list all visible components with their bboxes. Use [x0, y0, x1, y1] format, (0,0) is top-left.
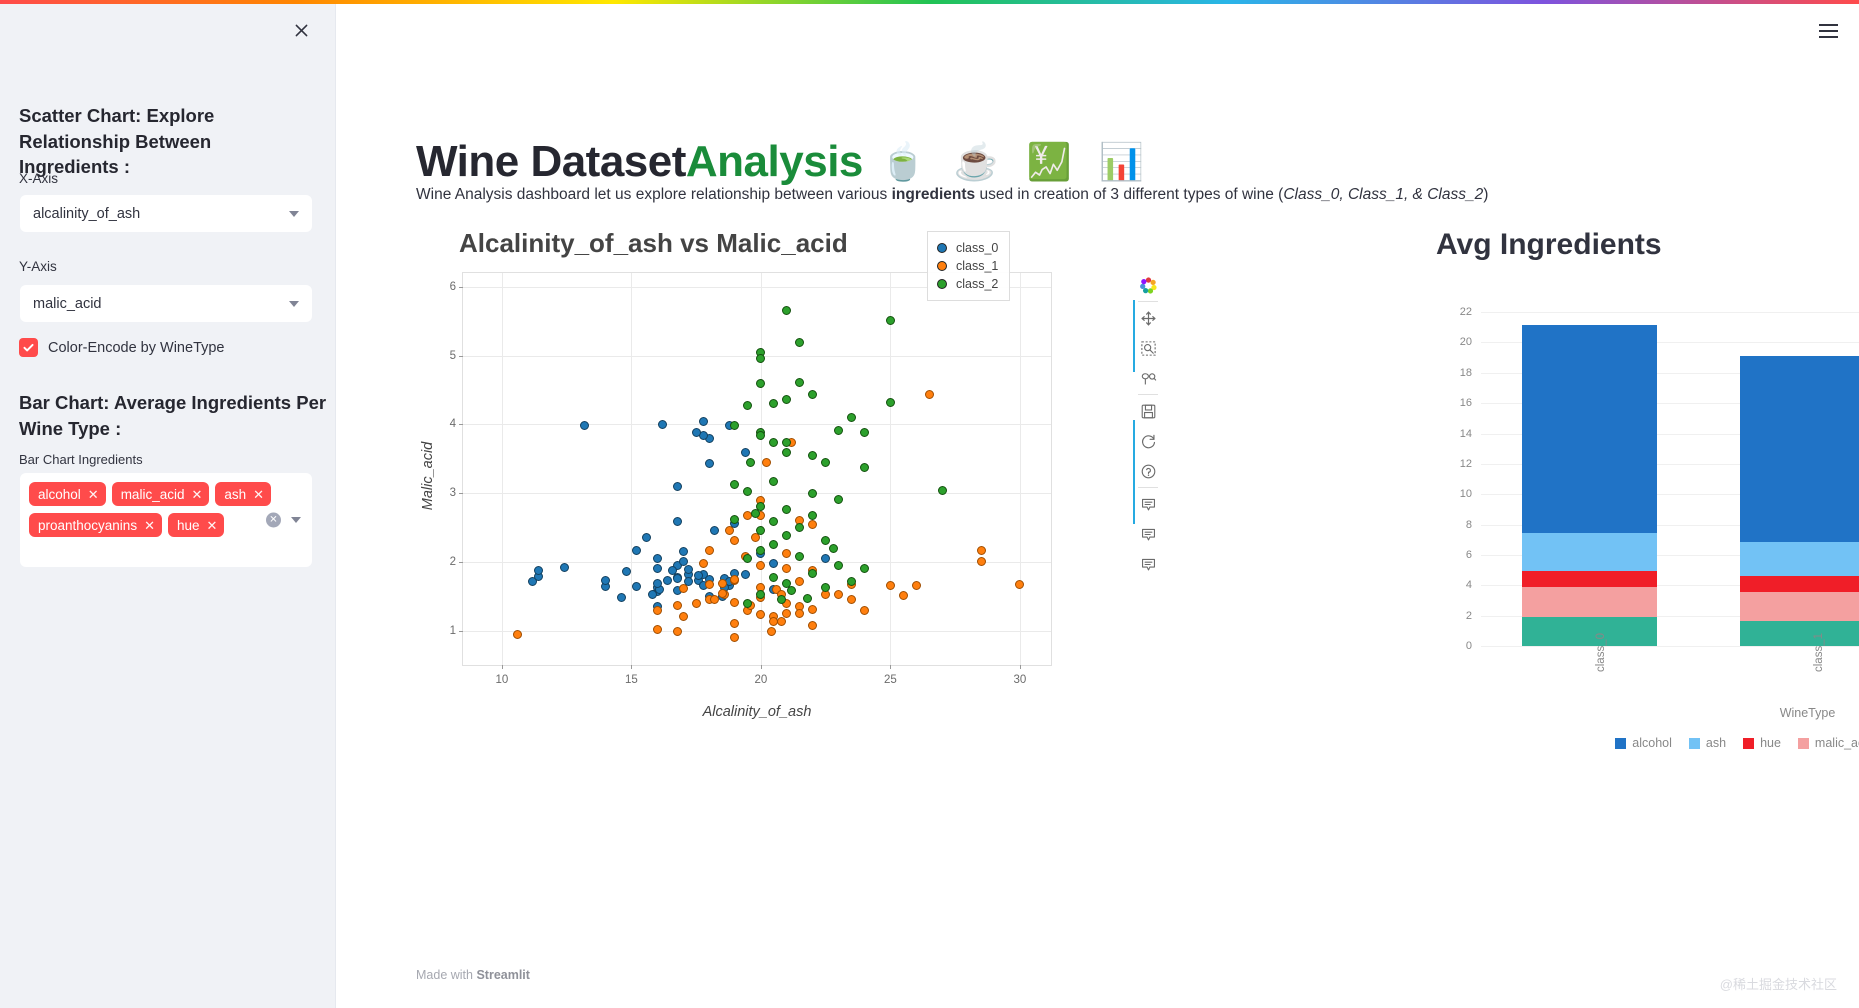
- scatter-y-tick-label: 6: [450, 281, 456, 293]
- color-encode-checkbox[interactable]: Color-Encode by WineType: [19, 338, 225, 357]
- scatter-gridline: [1020, 273, 1021, 665]
- bar-segment-malic_acid[interactable]: [1740, 592, 1859, 621]
- scatter-x-tickmark: [1020, 665, 1021, 669]
- subtitle-pre: Wine Analysis dashboard let us explore r…: [416, 186, 892, 203]
- help-icon[interactable]: [1135, 456, 1161, 486]
- scatter-point[interactable]: [679, 547, 688, 556]
- scatter-y-tick-label: 4: [450, 418, 456, 430]
- chip-proanthocyanins[interactable]: proanthocyanins ✕: [29, 513, 162, 537]
- scatter-y-tickmark: [459, 356, 463, 357]
- scatter-point[interactable]: [692, 599, 701, 608]
- scatter-point[interactable]: [886, 398, 895, 407]
- scatter-legend-item[interactable]: class_0: [937, 239, 998, 257]
- chevron-down-icon: [289, 301, 299, 307]
- scatter-point[interactable]: [743, 487, 752, 496]
- scatter-y-tick-label: 5: [450, 350, 456, 362]
- scatter-point[interactable]: [847, 413, 856, 422]
- scatter-point[interactable]: [860, 463, 869, 472]
- sidebar-bar-heading: Bar Chart: Average Ingredients Per Wine …: [19, 390, 329, 441]
- scatter-point[interactable]: [673, 627, 682, 636]
- scatter-point[interactable]: [847, 577, 856, 586]
- scatter-point[interactable]: [769, 559, 778, 568]
- bar-y-tick-label: 0: [1466, 640, 1472, 652]
- scatter-x-tickmark: [761, 665, 762, 669]
- brand-accent-strip: [0, 0, 1859, 4]
- scatter-x-tick-label: 20: [754, 674, 767, 686]
- chip-malic-acid[interactable]: malic_acid ✕: [112, 482, 210, 506]
- bar-segment-hue[interactable]: [1522, 571, 1657, 587]
- scatter-point[interactable]: [829, 544, 838, 553]
- bar-y-tick-label: 20: [1460, 336, 1472, 348]
- bar-segment-alcohol[interactable]: [1740, 356, 1859, 542]
- scatter-point[interactable]: [710, 526, 719, 535]
- scatter-point[interactable]: [730, 421, 739, 430]
- scatter-point[interactable]: [925, 390, 934, 399]
- scatter-y-tick-label: 1: [450, 625, 456, 637]
- scatter-point[interactable]: [673, 517, 682, 526]
- scatter-point[interactable]: [808, 621, 817, 630]
- scatter-legend-label: class_2: [956, 277, 998, 291]
- scatter-point[interactable]: [673, 574, 682, 583]
- scatter-gridline: [631, 273, 632, 665]
- chip-remove-icon[interactable]: ✕: [88, 488, 99, 501]
- chip-hue[interactable]: hue ✕: [168, 513, 224, 537]
- bar-segment-ash[interactable]: [1522, 533, 1657, 570]
- footer: Made with Streamlit: [416, 968, 530, 982]
- subtitle-italic: Class_0, Class_1, & Class_2: [1283, 186, 1483, 203]
- scatter-point[interactable]: [782, 564, 791, 573]
- scatter-point[interactable]: [782, 395, 791, 404]
- scatter-point[interactable]: [769, 573, 778, 582]
- scatter-point[interactable]: [730, 633, 739, 642]
- scatter-y-tickmark: [459, 631, 463, 632]
- chip-ash[interactable]: ash ✕: [215, 482, 271, 506]
- scatter-point[interactable]: [808, 489, 817, 498]
- scatter-gridline: [463, 424, 1051, 425]
- scatter-point[interactable]: [725, 526, 734, 535]
- legend-swatch-icon: [1615, 738, 1626, 749]
- scatter-point[interactable]: [705, 546, 714, 555]
- scatter-point[interactable]: [730, 536, 739, 545]
- bar-y-tick-label: 14: [1460, 428, 1472, 440]
- bar-y-tick-label: 4: [1466, 579, 1472, 591]
- page-title-part1: Wine Dataset: [416, 137, 686, 187]
- chip-remove-icon[interactable]: ✕: [253, 488, 264, 501]
- scatter-point[interactable]: [782, 306, 791, 315]
- scatter-point[interactable]: [513, 630, 522, 639]
- scatter-point[interactable]: [718, 579, 727, 588]
- bar-legend-label: ash: [1706, 736, 1726, 750]
- bar-chart-panel: Avg Ingredients 0246810121416182022class…: [1436, 228, 1859, 768]
- legend-swatch-icon: [937, 243, 947, 253]
- bar-column[interactable]: [1522, 300, 1657, 646]
- legend-swatch-icon: [1743, 738, 1754, 749]
- scatter-point[interactable]: [769, 438, 778, 447]
- scatter-y-tick-label: 3: [450, 487, 456, 499]
- pan-icon[interactable]: [1135, 303, 1161, 333]
- toolbar-active-indicator: [1133, 300, 1135, 372]
- page-title: Wine Dataset Analysis 🍵 ☕ 💹 📊: [416, 137, 1153, 187]
- scatter-x-tick-label: 10: [495, 674, 508, 686]
- scatter-point[interactable]: [787, 586, 796, 595]
- scatter-point[interactable]: [808, 569, 817, 578]
- title-emoji-row: 🍵 ☕ 💹 📊: [881, 144, 1153, 180]
- scatter-point[interactable]: [886, 316, 895, 325]
- scatter-point[interactable]: [741, 448, 750, 457]
- hamburger-menu-icon[interactable]: [1811, 14, 1845, 48]
- subtitle-bold: ingredients: [892, 186, 976, 203]
- scatter-point[interactable]: [756, 354, 765, 363]
- scatter-point[interactable]: [756, 526, 765, 535]
- bar-y-tick-label: 12: [1460, 458, 1472, 470]
- checkbox-checked-icon: [19, 338, 38, 357]
- bar-y-tick-label: 10: [1460, 488, 1472, 500]
- main-content: Wine Dataset Analysis 🍵 ☕ 💹 📊 Wine Analy…: [336, 0, 1859, 1008]
- scatter-point[interactable]: [808, 451, 817, 460]
- x-axis-label: X-Axis: [19, 170, 58, 189]
- scatter-x-tick-label: 15: [625, 674, 638, 686]
- scatter-x-axis-label: Alcalinity_of_ash: [462, 704, 1052, 720]
- bar-legend: alcoholashhuemalic_acidproanthocyanins: [1481, 736, 1859, 750]
- chevron-down-icon[interactable]: [291, 517, 301, 523]
- bar-legend-label: malic_acid: [1815, 736, 1859, 750]
- bar-legend-label: hue: [1760, 736, 1781, 750]
- scatter-point[interactable]: [834, 426, 843, 435]
- scatter-point[interactable]: [741, 570, 750, 579]
- scatter-point[interactable]: [699, 559, 708, 568]
- scatter-point[interactable]: [658, 420, 667, 429]
- bar-y-tick-label: 8: [1466, 519, 1472, 531]
- bar-legend-item[interactable]: malic_acid: [1798, 736, 1859, 750]
- y-axis-select[interactable]: malic_acid: [19, 284, 313, 323]
- scatter-point[interactable]: [834, 495, 843, 504]
- scatter-point[interactable]: [756, 561, 765, 570]
- scatter-point[interactable]: [795, 338, 804, 347]
- y-axis-select-value: malic_acid: [33, 296, 102, 312]
- bar-plot-area[interactable]: 0246810121416182022class_0class_1class_2: [1481, 300, 1859, 646]
- scatter-x-tickmark: [502, 665, 503, 669]
- footer-brand: Streamlit: [476, 968, 530, 982]
- scatter-point[interactable]: [730, 619, 739, 628]
- scatter-point[interactable]: [769, 477, 778, 486]
- legend-swatch-icon: [1689, 738, 1700, 749]
- scatter-gridline: [502, 273, 503, 665]
- bar-segment-alcohol[interactable]: [1522, 325, 1657, 534]
- scatter-point[interactable]: [743, 401, 752, 410]
- scatter-point[interactable]: [762, 458, 771, 467]
- scatter-point[interactable]: [821, 583, 830, 592]
- scatter-point[interactable]: [782, 549, 791, 558]
- scatter-point[interactable]: [847, 595, 856, 604]
- chip-label: malic_acid: [121, 487, 185, 502]
- scatter-gridline: [890, 273, 891, 665]
- scatter-point[interactable]: [642, 533, 651, 542]
- sidebar-scatter-heading: Scatter Chart: Explore Relationship Betw…: [19, 103, 309, 180]
- scatter-x-tickmark: [631, 665, 632, 669]
- scatter-x-tick-label: 30: [1014, 674, 1027, 686]
- toolbar-divider: [1138, 301, 1158, 302]
- scatter-legend-label: class_0: [956, 241, 998, 255]
- scatter-point[interactable]: [684, 565, 693, 574]
- clear-all-icon[interactable]: ✕: [266, 513, 281, 528]
- scatter-plot-area[interactable]: 1015202530123456: [462, 272, 1052, 666]
- scatter-point[interactable]: [679, 584, 688, 593]
- bar-gridline: [1481, 646, 1859, 647]
- chevron-down-icon: [289, 211, 299, 217]
- bar-legend-item[interactable]: hue: [1743, 736, 1781, 750]
- scatter-chart-title: Alcalinity_of_ash vs Malic_acid: [459, 228, 848, 259]
- scatter-point[interactable]: [679, 557, 688, 566]
- scatter-point[interactable]: [860, 606, 869, 615]
- scatter-y-tickmark: [459, 424, 463, 425]
- scatter-point[interactable]: [808, 390, 817, 399]
- scatter-point[interactable]: [673, 601, 682, 610]
- bar-ingredients-multiselect[interactable]: alcohol ✕ malic_acid ✕ ash ✕ proanthocya…: [19, 472, 313, 568]
- scatter-point[interactable]: [1015, 580, 1024, 589]
- close-icon[interactable]: [285, 14, 317, 46]
- color-encode-label: Color-Encode by WineType: [48, 340, 225, 356]
- subtitle-mid: used in creation of 3 different types of…: [975, 186, 1283, 203]
- scatter-point[interactable]: [580, 421, 589, 430]
- scatter-y-tick-label: 2: [450, 556, 456, 568]
- scatter-point[interactable]: [782, 448, 791, 457]
- bar-legend-label: alcohol: [1632, 736, 1672, 750]
- scatter-point[interactable]: [622, 567, 631, 576]
- scatter-legend-item[interactable]: class_1: [937, 257, 998, 275]
- bar-x-axis-label: WineType: [1481, 706, 1859, 720]
- bar-segment-ash[interactable]: [1740, 542, 1859, 576]
- scatter-point[interactable]: [769, 399, 778, 408]
- bar-y-tick-label: 2: [1466, 610, 1472, 622]
- scatter-point[interactable]: [821, 554, 830, 563]
- scatter-point[interactable]: [756, 431, 765, 440]
- scatter-point[interactable]: [977, 546, 986, 555]
- scatter-point[interactable]: [769, 517, 778, 526]
- scatter-point[interactable]: [730, 598, 739, 607]
- chip-label: alcohol: [38, 487, 81, 502]
- scatter-gridline: [463, 631, 1051, 632]
- bar-segment-malic_acid[interactable]: [1522, 587, 1657, 618]
- scatter-point[interactable]: [808, 605, 817, 614]
- scatter-point[interactable]: [679, 612, 688, 621]
- scatter-x-tick-label: 25: [884, 674, 897, 686]
- page-title-part2: Analysis: [686, 137, 863, 187]
- scatter-point[interactable]: [601, 576, 610, 585]
- box-zoom-icon[interactable]: [1135, 333, 1161, 363]
- scatter-point[interactable]: [730, 480, 739, 489]
- scatter-point[interactable]: [653, 625, 662, 634]
- x-axis-select[interactable]: alcalinity_of_ash: [19, 194, 313, 233]
- lasso-select-icon[interactable]: [1135, 363, 1161, 393]
- scatter-point[interactable]: [560, 563, 569, 572]
- watermark: @稀土掘金技术社区: [1720, 974, 1837, 993]
- legend-swatch-icon: [1798, 738, 1809, 749]
- scatter-point[interactable]: [534, 566, 543, 575]
- toolbar-divider: [1138, 394, 1158, 395]
- scatter-point[interactable]: [648, 590, 657, 599]
- y-axis-label: Y-Axis: [19, 258, 57, 277]
- scatter-point[interactable]: [821, 458, 830, 467]
- scatter-point[interactable]: [803, 594, 812, 603]
- scatter-legend-label: class_1: [956, 259, 998, 273]
- chip-remove-icon[interactable]: ✕: [144, 519, 155, 532]
- footer-pre: Made with: [416, 968, 476, 982]
- hover-tooltip-icon[interactable]: [1135, 519, 1161, 549]
- scatter-point[interactable]: [730, 575, 739, 584]
- scatter-point[interactable]: [782, 438, 791, 447]
- bar-legend-item[interactable]: ash: [1689, 736, 1726, 750]
- scatter-point[interactable]: [912, 581, 921, 590]
- scatter-point[interactable]: [795, 552, 804, 561]
- chip-remove-icon[interactable]: ✕: [207, 519, 218, 532]
- toolbar-divider: [1138, 487, 1158, 488]
- scatter-gridline: [761, 273, 762, 665]
- sidebar: Scatter Chart: Explore Relationship Betw…: [0, 0, 336, 1008]
- scatter-point[interactable]: [692, 428, 701, 437]
- scatter-point[interactable]: [653, 606, 662, 615]
- bar-chart-title: Avg Ingredients: [1436, 228, 1662, 262]
- bar-legend-item[interactable]: alcohol: [1615, 736, 1672, 750]
- scatter-point[interactable]: [782, 531, 791, 540]
- scatter-point[interactable]: [756, 610, 765, 619]
- chip-label: hue: [177, 518, 200, 533]
- bokeh-toolbar[interactable]: [1133, 270, 1163, 579]
- scatter-point[interactable]: [821, 536, 830, 545]
- chip-alcohol[interactable]: alcohol ✕: [29, 482, 106, 506]
- scatter-point[interactable]: [653, 554, 662, 563]
- reset-icon[interactable]: [1135, 426, 1161, 456]
- legend-swatch-icon: [937, 279, 947, 289]
- scatter-point[interactable]: [795, 577, 804, 586]
- scatter-chart-panel: Alcalinity_of_ash vs Malic_acid 10152025…: [416, 228, 1076, 728]
- bar-segment-proanthocyanins[interactable]: [1522, 617, 1657, 646]
- scatter-point[interactable]: [710, 595, 719, 604]
- scatter-y-tickmark: [459, 562, 463, 563]
- bar-y-tick-label: 16: [1460, 397, 1472, 409]
- bar-x-tick-label: class_1: [1813, 633, 1825, 672]
- scatter-legend: class_0class_1class_2: [927, 231, 1010, 301]
- scatter-point[interactable]: [834, 561, 843, 570]
- legend-swatch-icon: [937, 261, 947, 271]
- scatter-point[interactable]: [777, 617, 786, 626]
- scatter-y-axis-label: Malic_acid: [420, 316, 436, 636]
- scatter-point[interactable]: [705, 459, 714, 468]
- scatter-gridline: [463, 493, 1051, 494]
- scatter-point[interactable]: [938, 486, 947, 495]
- scatter-point[interactable]: [632, 582, 641, 591]
- scatter-point[interactable]: [860, 564, 869, 573]
- scatter-point[interactable]: [653, 564, 662, 573]
- scatter-point[interactable]: [718, 589, 727, 598]
- scatter-point[interactable]: [756, 379, 765, 388]
- scatter-point[interactable]: [746, 458, 755, 467]
- scatter-point[interactable]: [663, 576, 672, 585]
- scatter-point[interactable]: [834, 590, 843, 599]
- scatter-point[interactable]: [977, 557, 986, 566]
- scatter-point[interactable]: [673, 482, 682, 491]
- bar-y-tick-label: 22: [1460, 306, 1472, 318]
- subtitle-post: ): [1483, 186, 1488, 203]
- scatter-point[interactable]: [769, 540, 778, 549]
- bar-segment-hue[interactable]: [1740, 576, 1859, 592]
- chip-label: ash: [224, 487, 246, 502]
- scatter-point[interactable]: [617, 593, 626, 602]
- scatter-point[interactable]: [860, 428, 869, 437]
- chip-label: proanthocyanins: [38, 518, 137, 533]
- scatter-point[interactable]: [899, 591, 908, 600]
- hover-tooltip-icon[interactable]: [1135, 549, 1161, 579]
- scatter-point[interactable]: [782, 505, 791, 514]
- bokeh-logo-icon[interactable]: [1135, 270, 1161, 300]
- scatter-y-tickmark: [459, 493, 463, 494]
- chip-remove-icon[interactable]: ✕: [191, 488, 202, 501]
- bar-segment-proanthocyanins[interactable]: [1740, 621, 1859, 646]
- toolbar-active-indicator: [1133, 420, 1135, 524]
- scatter-point[interactable]: [769, 617, 778, 626]
- scatter-point[interactable]: [632, 546, 641, 555]
- scatter-point[interactable]: [808, 520, 817, 529]
- bar-x-tick-label: class_0: [1595, 633, 1607, 672]
- scatter-point[interactable]: [795, 609, 804, 618]
- x-axis-select-value: alcalinity_of_ash: [33, 206, 140, 222]
- hover-tooltip-icon[interactable]: [1135, 489, 1161, 519]
- scatter-legend-item[interactable]: class_2: [937, 275, 998, 293]
- scatter-y-tickmark: [459, 287, 463, 288]
- scatter-point[interactable]: [795, 378, 804, 387]
- save-icon[interactable]: [1135, 396, 1161, 426]
- scatter-x-tickmark: [890, 665, 891, 669]
- page-subtitle: Wine Analysis dashboard let us explore r…: [416, 186, 1488, 204]
- bar-ingredients-label: Bar Chart Ingredients: [19, 452, 143, 467]
- scatter-point[interactable]: [808, 511, 817, 520]
- bar-y-tick-label: 6: [1466, 549, 1472, 561]
- scatter-point[interactable]: [767, 627, 776, 636]
- scatter-point[interactable]: [705, 580, 714, 589]
- scatter-point[interactable]: [886, 581, 895, 590]
- bar-column[interactable]: [1740, 300, 1859, 646]
- bar-y-tick-label: 18: [1460, 367, 1472, 379]
- scatter-point[interactable]: [795, 523, 804, 532]
